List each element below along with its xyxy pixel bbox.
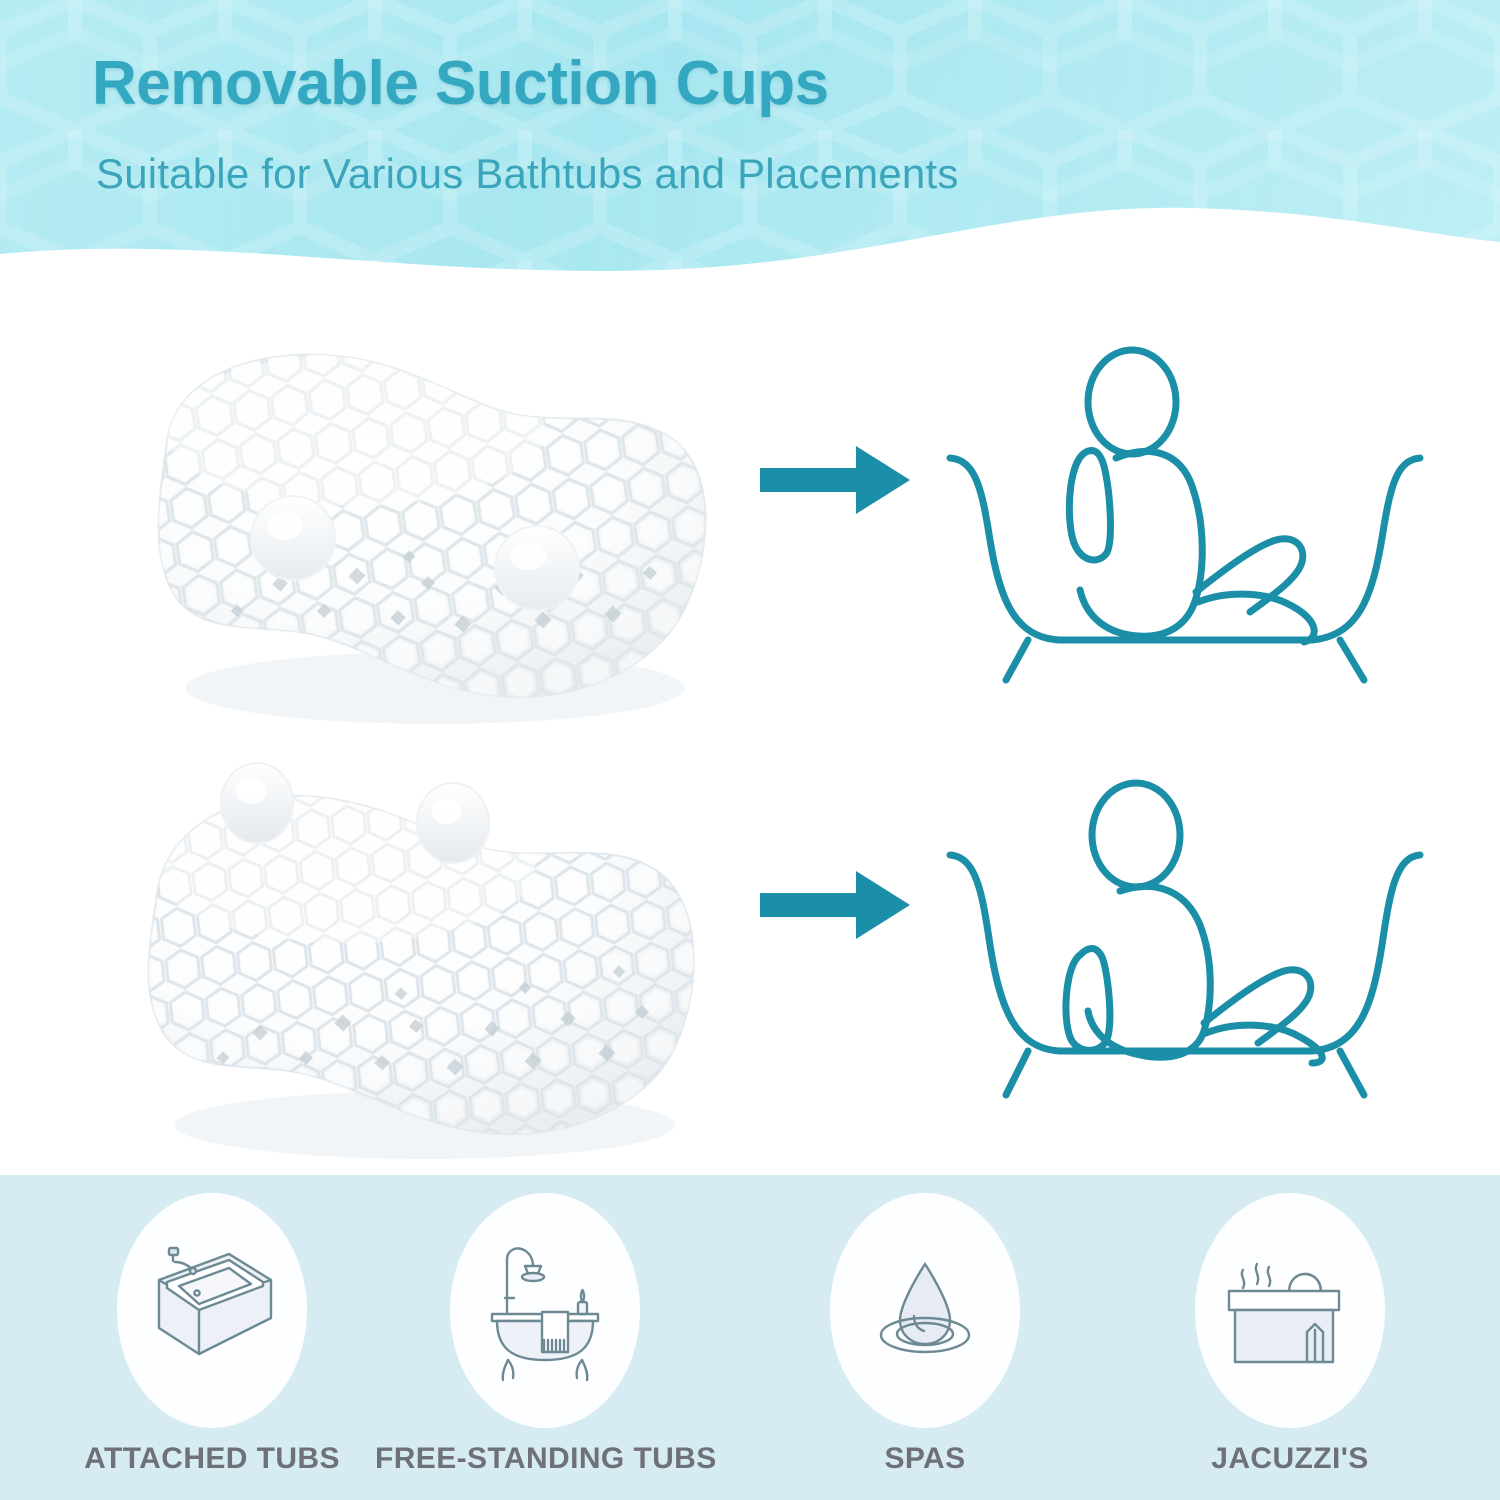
feature-label: FREE-STANDING TUBS — [375, 1442, 715, 1476]
feature-label: ATTACHED TUBS — [42, 1442, 382, 1476]
suction-cup — [417, 783, 489, 863]
feature-disc — [1195, 1193, 1385, 1428]
feature-label: SPAS — [755, 1442, 1095, 1476]
page-subtitle: Suitable for Various Bathtubs and Placem… — [96, 150, 959, 198]
water-droplet-ripple-icon — [850, 1236, 1000, 1386]
bath-pillow-suction-cups-center — [105, 320, 745, 740]
arrow-right-icon — [760, 440, 910, 520]
page-title: Removable Suction Cups — [92, 48, 829, 119]
clawfoot-bathtub-shower-icon — [470, 1236, 620, 1386]
demo-row-headrest — [0, 320, 1500, 740]
header-wave-divider — [0, 182, 1500, 300]
feature-disc — [450, 1193, 640, 1428]
feature-spas: SPAS — [755, 1193, 1095, 1493]
feature-jacuzzis: JACUZZI'S — [1120, 1193, 1460, 1493]
feature-attached-tubs: ATTACHED TUBS — [42, 1193, 382, 1493]
arrow-right-icon — [760, 865, 910, 945]
person-reclining-headrest-illustration — [920, 340, 1440, 720]
feature-disc — [117, 1193, 307, 1428]
header-banner: Removable Suction Cups Suitable for Vari… — [0, 0, 1500, 300]
feature-disc — [830, 1193, 1020, 1428]
suction-cup — [221, 763, 293, 843]
built-in-bathtub-icon — [137, 1236, 287, 1386]
bath-pillow-suction-cups-top-edge — [105, 745, 745, 1165]
compatible-tubs-band: ATTACHED TUBS — [0, 1175, 1500, 1500]
hot-tub-steam-icon — [1215, 1236, 1365, 1386]
feature-free-standing-tubs: FREE-STANDING TUBS — [375, 1193, 715, 1493]
product-demo-section — [0, 300, 1500, 1175]
suction-cup — [495, 526, 579, 610]
person-reclining-lumbar-illustration — [920, 765, 1440, 1145]
demo-row-lumbar — [0, 745, 1500, 1165]
feature-label: JACUZZI'S — [1120, 1442, 1460, 1476]
suction-cup — [251, 496, 335, 580]
